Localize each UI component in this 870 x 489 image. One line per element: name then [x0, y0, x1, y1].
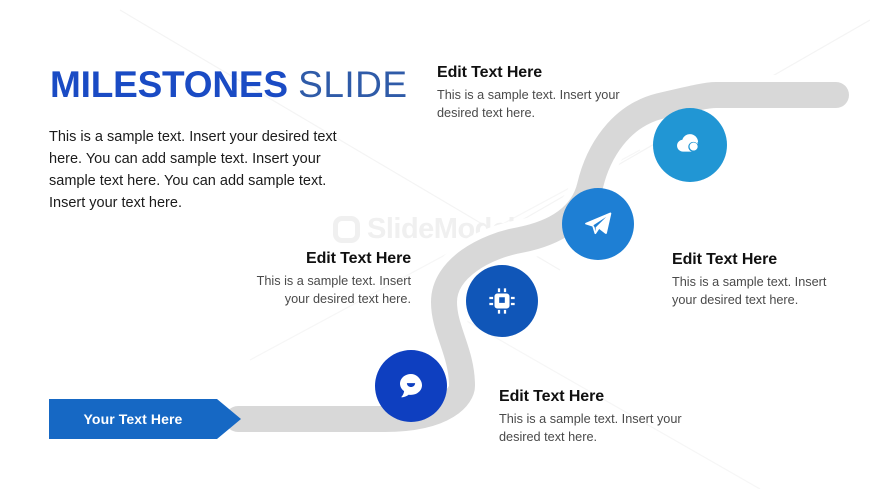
- your-text-here-banner[interactable]: Your Text Here: [49, 399, 241, 439]
- milestone-heading: Edit Text Here: [672, 251, 852, 269]
- title-bold-part: MILESTONES: [50, 64, 288, 105]
- chat-bubble-icon: [395, 370, 427, 402]
- cloud-icon: [673, 128, 707, 162]
- milestones-slide: SlideModel .com MILESTONES SLIDE This is…: [0, 0, 870, 489]
- milestone-node-cloud[interactable]: [653, 108, 727, 182]
- page-title: MILESTONES SLIDE: [50, 66, 408, 105]
- milestone-heading: Edit Text Here: [437, 64, 627, 82]
- title-light-part: SLIDE: [298, 64, 407, 105]
- milestone-node-chip[interactable]: [466, 265, 538, 337]
- rounded-square-logo-icon: [333, 216, 360, 243]
- microchip-icon: [487, 286, 517, 316]
- milestone-body: This is a sample text. Insert your desir…: [437, 86, 627, 122]
- milestone-heading: Edit Text Here: [241, 250, 411, 268]
- milestone-heading: Edit Text Here: [499, 388, 684, 406]
- milestone-text-chat: Edit Text Here This is a sample text. In…: [499, 388, 684, 446]
- milestone-node-plane[interactable]: [562, 188, 634, 260]
- paper-plane-icon: [582, 208, 614, 240]
- slidemodel-watermark: SlideModel .com: [333, 206, 583, 252]
- milestone-node-chat[interactable]: [375, 350, 447, 422]
- milestone-body: This is a sample text. Insert your desir…: [672, 273, 852, 309]
- milestone-text-chip: Edit Text Here This is a sample text. In…: [672, 251, 852, 309]
- watermark-brand: SlideModel: [367, 215, 515, 244]
- milestone-text-cloud: Edit Text Here This is a sample text. In…: [437, 64, 627, 122]
- watermark-tld: .com: [518, 235, 546, 249]
- milestone-text-plane: Edit Text Here This is a sample text. In…: [241, 250, 411, 308]
- milestone-body: This is a sample text. Insert your desir…: [499, 410, 684, 446]
- banner-label: Your Text Here: [49, 399, 217, 439]
- intro-paragraph: This is a sample text. Insert your desir…: [49, 126, 349, 214]
- milestone-body: This is a sample text. Insert your desir…: [241, 272, 411, 308]
